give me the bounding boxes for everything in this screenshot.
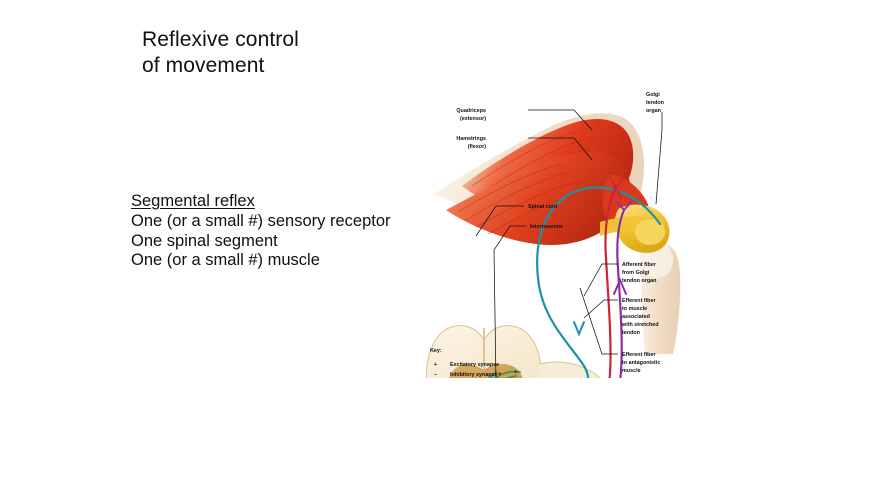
body-heading-segmental-reflex: Segmental reflex xyxy=(131,192,431,212)
body-text-block: Segmental reflex One (or a small #) sens… xyxy=(131,192,431,271)
leader-golgi xyxy=(656,112,662,204)
label-efferent-antagonistic-line1: Efferent fiber xyxy=(622,352,656,358)
title-line-2: of movement xyxy=(142,53,472,79)
spinal-cord-cross-section xyxy=(426,326,616,378)
reflex-circuit-figure: + + – – Quadriceps (extensor) Hamst xyxy=(424,82,712,378)
key-label-excitatory: Excitatory synapse xyxy=(450,362,499,368)
label-hamstrings-line1: Hamstrings xyxy=(456,136,486,142)
label-efferent-stretched-line3: associated xyxy=(622,314,650,320)
label-afferent-line1: Afferent fiber xyxy=(622,262,657,268)
label-hamstrings-line2: (flexor) xyxy=(468,144,486,150)
key-label-inhibitory: Inhibitory synapse xyxy=(450,372,498,378)
label-golgi-line2: tendon xyxy=(646,100,664,106)
title-line-1: Reflexive control xyxy=(142,27,472,53)
label-golgi-line1: Golgi xyxy=(646,92,660,98)
key-title: Key: xyxy=(430,348,442,354)
body-line-muscle: One (or a small #) muscle xyxy=(131,251,431,271)
afferent-arrow-1 xyxy=(574,322,584,334)
label-spinal-cord: Spinal cord xyxy=(528,204,557,210)
label-afferent-line3: tendon organ xyxy=(622,278,656,284)
leader-efferent-antagonistic xyxy=(580,288,618,354)
synapse-plus-1: + xyxy=(498,372,502,378)
body-line-sensory-receptor: One (or a small #) sensory receptor xyxy=(131,212,431,232)
dorsal-root-sheath xyxy=(538,362,612,378)
body-line-spinal-segment: One spinal segment xyxy=(131,232,431,252)
label-efferent-antagonistic-line2: to antagonistic xyxy=(622,360,660,366)
label-efferent-stretched-line1: Efferent fiber xyxy=(622,298,656,304)
label-efferent-stretched-line2: to muscle xyxy=(622,306,647,312)
key-symbol-inhibitory: – xyxy=(434,372,437,378)
label-interneurons: Interneurons xyxy=(530,224,563,230)
leader-afferent xyxy=(584,264,618,296)
label-efferent-stretched-line5: tendon xyxy=(622,330,640,336)
slide-canvas: Reflexive control of movement Segmental … xyxy=(0,0,880,495)
label-golgi-line3: organ xyxy=(646,108,661,114)
label-efferent-stretched-line4: with stretched xyxy=(621,322,659,328)
synapse-plus-2: + xyxy=(514,370,518,376)
page-title: Reflexive control of movement xyxy=(142,27,472,79)
label-quadriceps-line1: Quadriceps xyxy=(456,108,486,114)
label-efferent-antagonistic-line3: muscle xyxy=(622,368,641,374)
key-symbol-excitatory: + xyxy=(434,362,437,368)
label-quadriceps-line2: (extensor) xyxy=(460,116,486,122)
label-afferent-line2: from Golgi xyxy=(622,270,650,276)
